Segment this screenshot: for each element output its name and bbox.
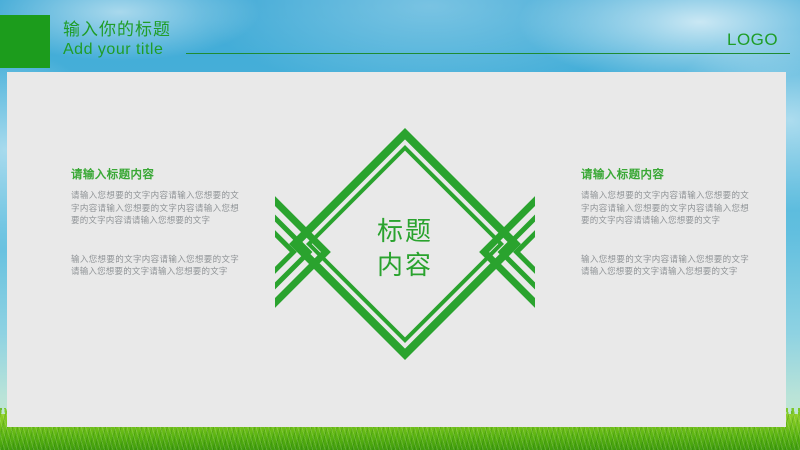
emblem-label: 标题 内容 — [357, 214, 453, 282]
column-paragraph-left-1: 请输入您想要的文字内容请输入您想要的文字内容请输入您想要的文字内容请输入您想要的… — [71, 189, 239, 227]
emblem-label-line2: 内容 — [357, 248, 453, 282]
column-heading-left: 请输入标题内容 — [71, 168, 239, 182]
column-paragraph-left-2: 输入您想要的文字内容请输入您想要的文字请输入您想要的文字请输入您想要的文字 — [71, 253, 239, 278]
right-diamond-inner — [517, 234, 535, 271]
content-column-right: 请输入标题内容 请输入您想要的文字内容请输入您想要的文字内容请输入您想要的文字内… — [581, 168, 749, 278]
content-column-left: 请输入标题内容 请输入您想要的文字内容请输入您想要的文字内容请输入您想要的文字内… — [71, 168, 239, 278]
column-heading-right: 请输入标题内容 — [581, 168, 749, 182]
header-accent-block — [0, 15, 50, 68]
column-paragraph-right-2: 输入您想要的文字内容请输入您想要的文字请输入您想要的文字请输入您想要的文字 — [581, 253, 749, 278]
emblem-label-line1: 标题 — [357, 214, 453, 248]
left-diamond-inner — [275, 234, 293, 271]
slide: 输入你的标题 Add your title LOGO 请输入标题内容 请输入您想… — [0, 0, 800, 450]
logo-placeholder: LOGO — [727, 30, 778, 50]
column-paragraph-right-1: 请输入您想要的文字内容请输入您想要的文字内容请输入您想要的文字内容请输入您想要的… — [581, 189, 749, 227]
slide-title-english: Add your title — [63, 40, 163, 59]
slide-title-chinese: 输入你的标题 — [63, 20, 171, 40]
header-divider-line — [186, 53, 790, 54]
